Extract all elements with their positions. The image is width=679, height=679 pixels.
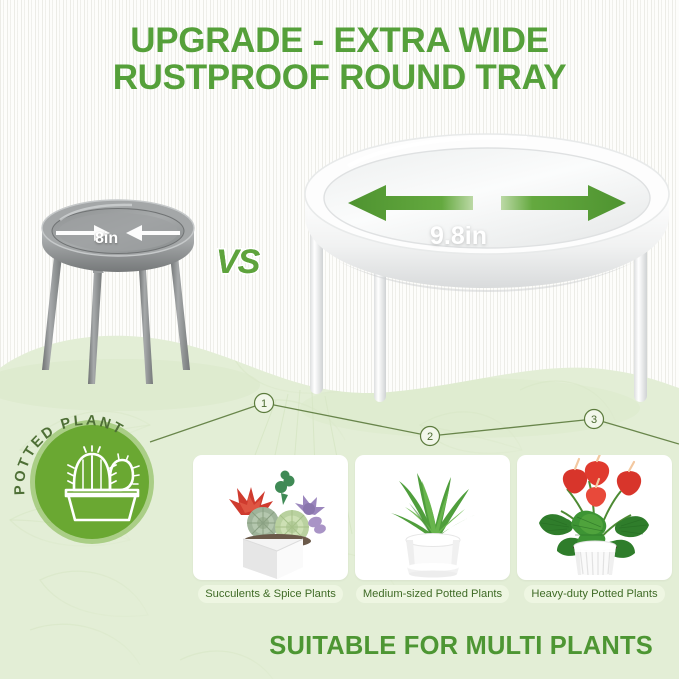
anthurium-in-ribbed-pot-image [517,455,672,580]
step-number-2: 2 [427,431,433,443]
step-node: 3 [585,410,604,429]
plant-card-list: Succulents & Spice Plants [193,455,671,615]
footer-banner: SUITABLE FOR MULTI PLANTS [0,632,653,661]
step-number-1: 1 [261,398,267,410]
old-tray-dimension-label: 8in [95,230,118,248]
plant-card[interactable]: Medium-sized Potted Plants [355,455,510,615]
aloe-in-round-white-pot-image [355,455,510,580]
new-tray-dimension-label: 9.8in [430,222,487,251]
round-white-pot [406,534,460,578]
step-node: 1 [255,394,274,413]
ribbed-white-pot [574,541,616,575]
aloe-leaves [391,473,475,539]
hexagon-pot [243,539,303,579]
plant-card[interactable]: Heavy-duty Potted Plants [517,455,672,615]
succulents-in-hexagon-pot-image [193,455,348,580]
infographic-root: UPGRADE - EXTRA WIDE RUSTPROOF ROUND TRA… [0,0,679,679]
plant-card-label: Succulents & Spice Plants [198,585,343,603]
new-white-plant-stand [296,132,679,402]
plant-card-label: Medium-sized Potted Plants [356,585,509,603]
old-gray-plant-stand [38,198,198,398]
plant-card-label: Heavy-duty Potted Plants [524,585,664,603]
step-node: 2 [421,427,440,446]
headline-line-1: UPGRADE - EXTRA WIDE [130,21,549,60]
step-number-3: 3 [591,414,597,426]
headline: UPGRADE - EXTRA WIDE RUSTPROOF ROUND TRA… [0,22,679,97]
versus-label: VS [216,243,259,282]
potted-plant-badge: POTTED PLANT [6,398,171,563]
headline-line-2: RUSTPROOF ROUND TRAY [0,59,679,96]
plant-card[interactable]: Succulents & Spice Plants [193,455,348,615]
stand-legs [42,256,190,384]
